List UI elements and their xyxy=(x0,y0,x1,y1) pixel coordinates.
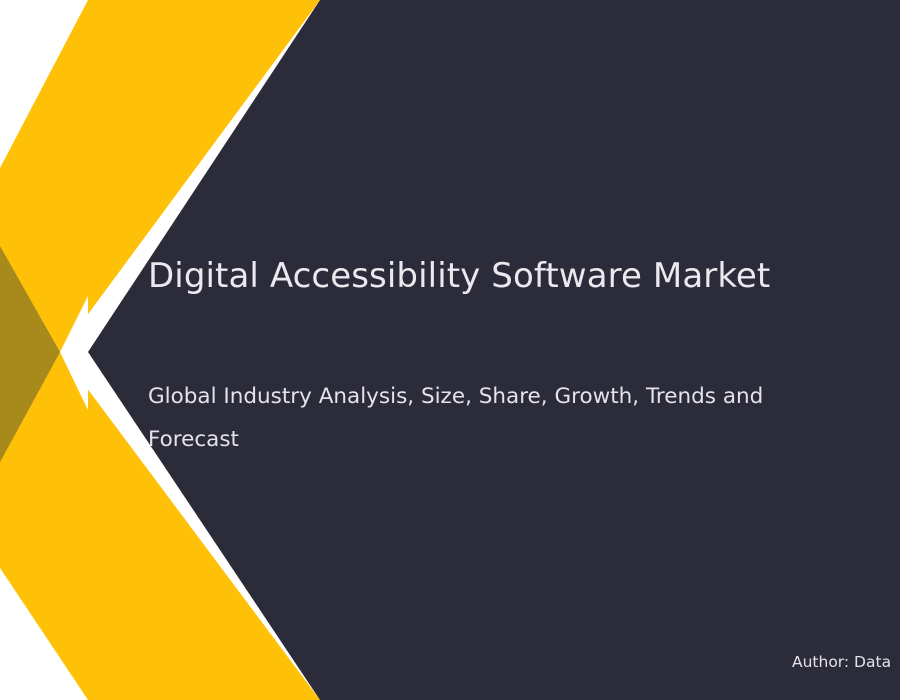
slide-subtitle: Global Industry Analysis, Size, Share, G… xyxy=(148,375,808,461)
page-title: Digital Accessibility Software Market xyxy=(148,256,868,296)
slide-content: Digital Accessibility Software Market Gl… xyxy=(0,0,900,700)
title-slide: Digital Accessibility Software Market Gl… xyxy=(0,0,900,700)
author-credit: Author: Data xyxy=(792,653,891,672)
